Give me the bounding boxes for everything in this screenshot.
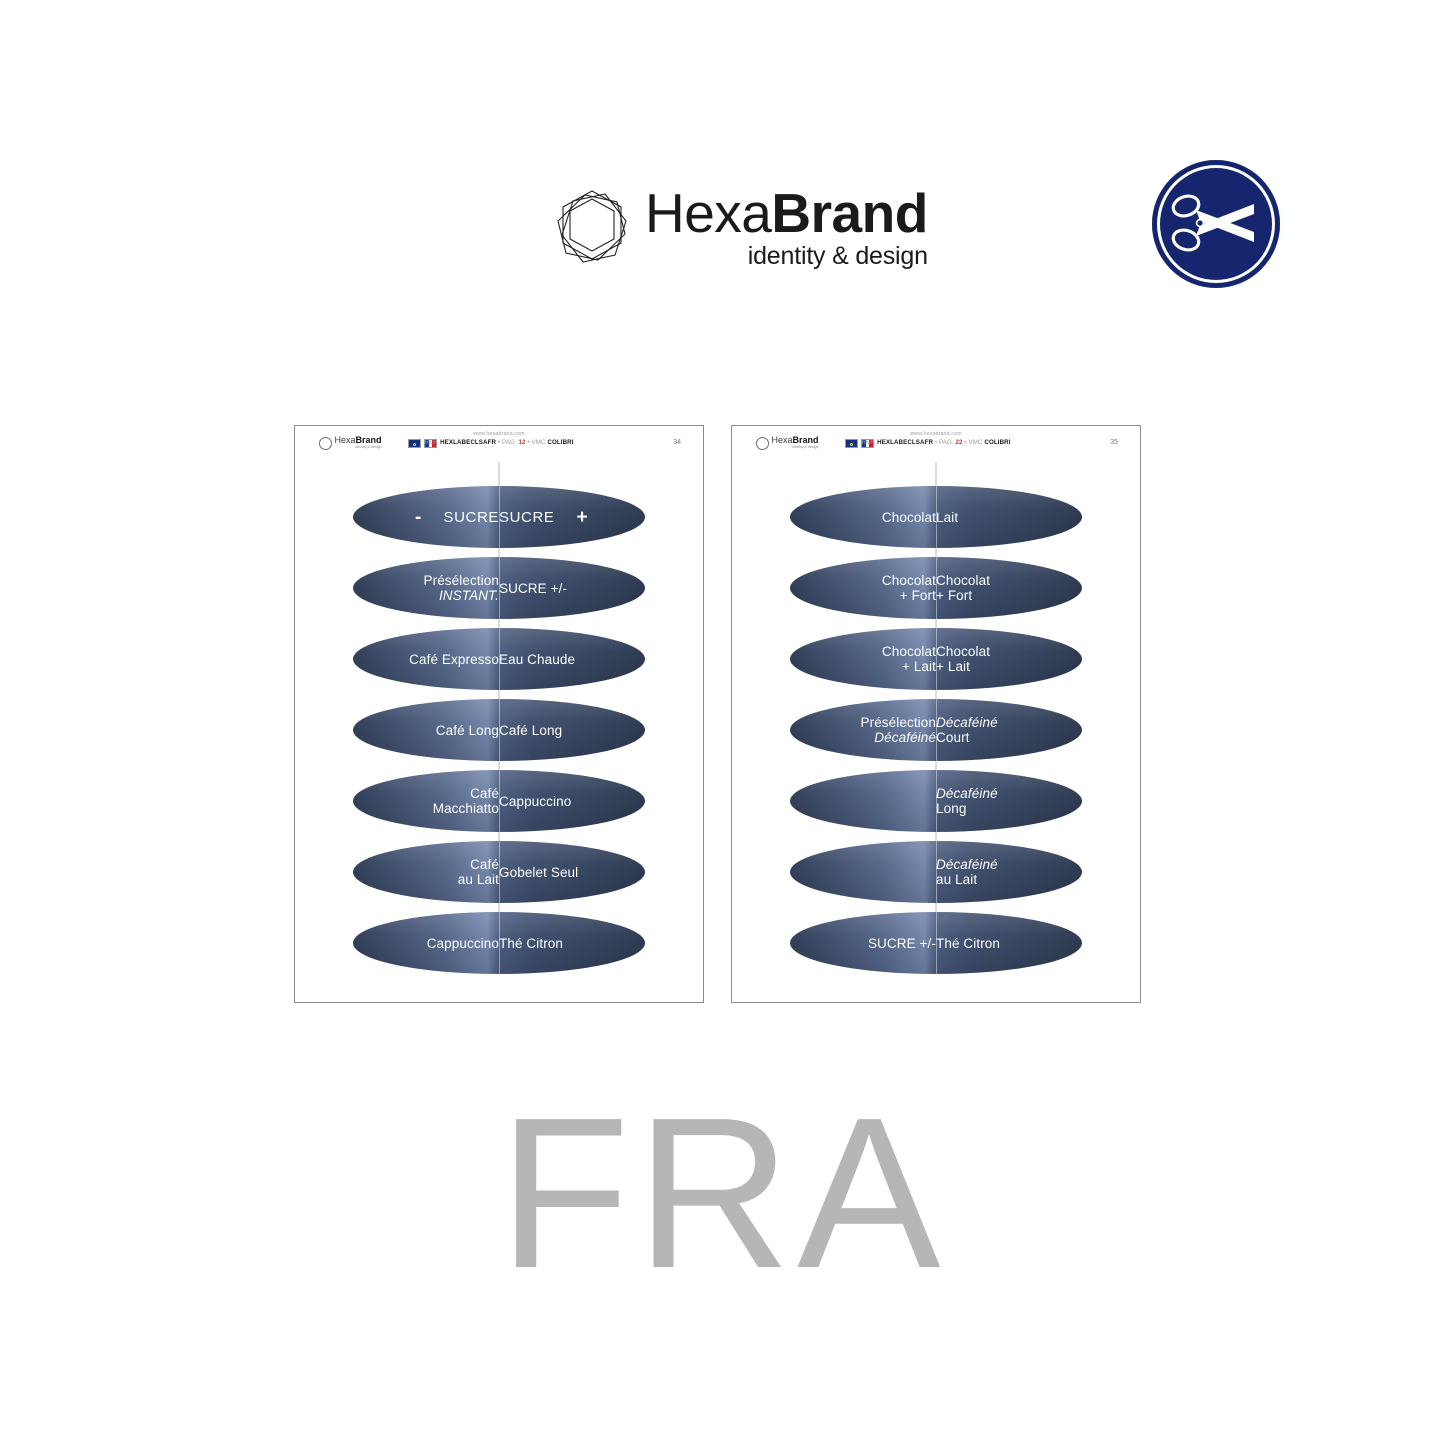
label-text: Eau Chaude	[499, 652, 575, 667]
label-cell-left: Présélection Décaféiné	[790, 699, 945, 761]
label-text-line2: Long	[936, 801, 998, 816]
label-cell-right: Décaféiné Long	[927, 770, 1082, 832]
label-cell-left	[790, 841, 945, 903]
label-text-line2: au Lait	[936, 872, 998, 887]
label-text-line1: Décaféiné	[936, 857, 998, 872]
pag-label: • PAG.	[935, 439, 954, 446]
label-cell-right: Lait	[927, 486, 1082, 548]
label-text: SUCRE +/-	[499, 581, 567, 596]
label-cell-left: Café Expresso	[353, 628, 508, 690]
label-text-line1: Présélection	[861, 715, 937, 730]
label-row[interactable]: -SUCRE SUCRE+	[353, 486, 645, 548]
sheet-header-left: HexaBrand identity & design www.hexabran…	[295, 426, 703, 460]
label-row[interactable]: SUCRE +/- Thé Citron	[790, 912, 1082, 974]
label-row[interactable]: Présélection INSTANT. SUCRE +/-	[353, 557, 645, 619]
label-text: SUCRE	[499, 510, 555, 525]
hexagon-outline-mark-icon	[553, 187, 631, 267]
machine-model: COLIBRI	[984, 439, 1010, 446]
language-label: FRA	[0, 1085, 1445, 1300]
label-text: Cappuccino	[499, 794, 571, 809]
label-row[interactable]: Décaféiné au Lait	[790, 841, 1082, 903]
label-text-line2: Court	[936, 730, 998, 745]
label-text: Lait	[936, 510, 958, 525]
hexabrand-logo: HexaBrand identity & design	[553, 185, 928, 270]
label-cell-left: Cappuccino	[353, 912, 508, 974]
label-text-line1: Décaféiné	[936, 786, 998, 801]
brand-wordmark: HexaBrand identity & design	[645, 185, 928, 270]
label-cell-right: Décaféiné Court	[927, 699, 1082, 761]
sheet-page-number-right: 35	[1110, 439, 1118, 446]
label-text: Gobelet Seul	[499, 865, 578, 880]
label-sheet-page-34: HexaBrand identity & design www.hexabran…	[294, 425, 704, 1003]
label-cell-left	[790, 770, 945, 832]
label-text: SUCRE +/-	[868, 936, 936, 951]
label-cell-right: Chocolat + Lait	[927, 628, 1082, 690]
scissors-icon	[1170, 182, 1262, 268]
label-text-line2: INSTANT.	[424, 588, 500, 603]
label-cell-right: Thé Citron	[927, 912, 1082, 974]
sheet-url-right: www.hexabrand.com	[732, 431, 1140, 437]
label-cell-right: Gobelet Seul	[490, 841, 645, 903]
label-row[interactable]: Café Expresso Eau Chaude	[353, 628, 645, 690]
label-cell-left: -SUCRE	[353, 486, 508, 548]
label-cell-left: Chocolat + Lait	[790, 628, 945, 690]
label-cell-right: Cappuccino	[490, 770, 645, 832]
label-oval: Café Expresso Eau Chaude	[353, 628, 645, 690]
label-oval: Café Long Café Long	[353, 699, 645, 761]
label-oval: Décaféiné Long	[790, 770, 1082, 832]
label-row[interactable]: Présélection Décaféiné Décaféiné Court	[790, 699, 1082, 761]
label-oval: Présélection Décaféiné Décaféiné Court	[790, 699, 1082, 761]
scissors-badge	[1152, 160, 1280, 288]
label-text: Thé Citron	[499, 936, 563, 951]
vmc-label: • VMC	[527, 439, 545, 446]
sheet-ref-line-right: REF. HEXLABECLSAFR • PAG. 22 • VMC COLIB…	[732, 439, 1140, 446]
brand-name-bold: Brand	[771, 182, 927, 244]
brand-name-light: Hexa	[645, 182, 771, 244]
sheet-url-left: www.hexabrand.com	[295, 431, 703, 437]
label-cell-left: Chocolat + Fort	[790, 557, 945, 619]
label-sheet-page-35: HexaBrand identity & design www.hexabran…	[731, 425, 1141, 1003]
sheet-ref-line-left: REF. HEXLABECLSAFR • PAG. 12 • VMC COLIB…	[295, 439, 703, 446]
label-text-line1: Présélection	[424, 573, 500, 588]
sheet-header-right: HexaBrand identity & design www.hexabran…	[732, 426, 1140, 460]
ref-code: HEXLABECLSAFR	[440, 439, 496, 446]
oval-stack-right: Chocolat Lait Chocolat + Fort	[732, 462, 1140, 986]
label-text-line2: + Fort	[936, 588, 990, 603]
label-sheets: HexaBrand identity & design www.hexabran…	[0, 425, 1445, 1005]
label-cell-left: Chocolat	[790, 486, 945, 548]
label-text: Café Expresso	[409, 652, 499, 667]
label-cell-right: Thé Citron	[490, 912, 645, 974]
label-row[interactable]: Café Macchiatto Cappuccino	[353, 770, 645, 832]
label-row[interactable]: Café au Lait Gobelet Seul	[353, 841, 645, 903]
label-cell-right: SUCRE +/-	[490, 557, 645, 619]
minus-sign: -	[415, 510, 421, 525]
label-row[interactable]: Chocolat Lait	[790, 486, 1082, 548]
ref-label: REF.	[424, 439, 438, 446]
label-cell-right: Chocolat + Fort	[927, 557, 1082, 619]
ref-label: REF.	[861, 439, 875, 446]
label-text-line1: Décaféiné	[936, 715, 998, 730]
pag-label: • PAG.	[498, 439, 517, 446]
label-text-line2: + Lait	[936, 659, 990, 674]
plus-sign: +	[577, 510, 588, 525]
label-oval: Présélection INSTANT. SUCRE +/-	[353, 557, 645, 619]
label-cell-left: Café Macchiatto	[353, 770, 508, 832]
label-text: Café Long	[499, 723, 562, 738]
pag-number: 12	[519, 439, 526, 446]
label-oval: Café Macchiatto Cappuccino	[353, 770, 645, 832]
label-oval: Chocolat Lait	[790, 486, 1082, 548]
label-text-line1: Chocolat	[936, 644, 990, 659]
label-row[interactable]: Café Long Café Long	[353, 699, 645, 761]
label-text-line1: Chocolat	[936, 573, 990, 588]
machine-model: COLIBRI	[547, 439, 573, 446]
label-text: Cappuccino	[427, 936, 499, 951]
oval-stack-left: -SUCRE SUCRE+ Présélection INSTANT.	[295, 462, 703, 986]
brand-tagline: identity & design	[645, 242, 928, 270]
ref-code: HEXLABECLSAFR	[877, 439, 933, 446]
label-cell-left: Café Long	[353, 699, 508, 761]
sheet-page-number-left: 34	[673, 439, 681, 446]
label-oval: SUCRE +/- Thé Citron	[790, 912, 1082, 974]
label-oval: Chocolat + Fort Chocolat + Fort	[790, 557, 1082, 619]
label-text-line2: Décaféiné	[861, 730, 937, 745]
label-row[interactable]: Décaféiné Long	[790, 770, 1082, 832]
label-row[interactable]: Cappuccino Thé Citron	[353, 912, 645, 974]
pag-number: 22	[956, 439, 963, 446]
label-oval: Cappuccino Thé Citron	[353, 912, 645, 974]
label-cell-left: Présélection INSTANT.	[353, 557, 508, 619]
label-row[interactable]: Chocolat + Fort Chocolat + Fort	[790, 557, 1082, 619]
label-cell-right: Café Long	[490, 699, 645, 761]
label-oval: Décaféiné au Lait	[790, 841, 1082, 903]
label-row[interactable]: Chocolat + Lait Chocolat + Lait	[790, 628, 1082, 690]
label-cell-right: Décaféiné au Lait	[927, 841, 1082, 903]
label-text: Thé Citron	[936, 936, 1000, 951]
label-cell-left: SUCRE +/-	[790, 912, 945, 974]
vmc-label: • VMC	[964, 439, 982, 446]
label-cell-left: Café au Lait	[353, 841, 508, 903]
label-cell-right: Eau Chaude	[490, 628, 645, 690]
label-cell-right: SUCRE+	[490, 486, 645, 548]
label-oval: Café au Lait Gobelet Seul	[353, 841, 645, 903]
header-bar: HexaBrand identity & design	[0, 0, 1445, 330]
label-oval: -SUCRE SUCRE+	[353, 486, 645, 548]
label-oval: Chocolat + Lait Chocolat + Lait	[790, 628, 1082, 690]
